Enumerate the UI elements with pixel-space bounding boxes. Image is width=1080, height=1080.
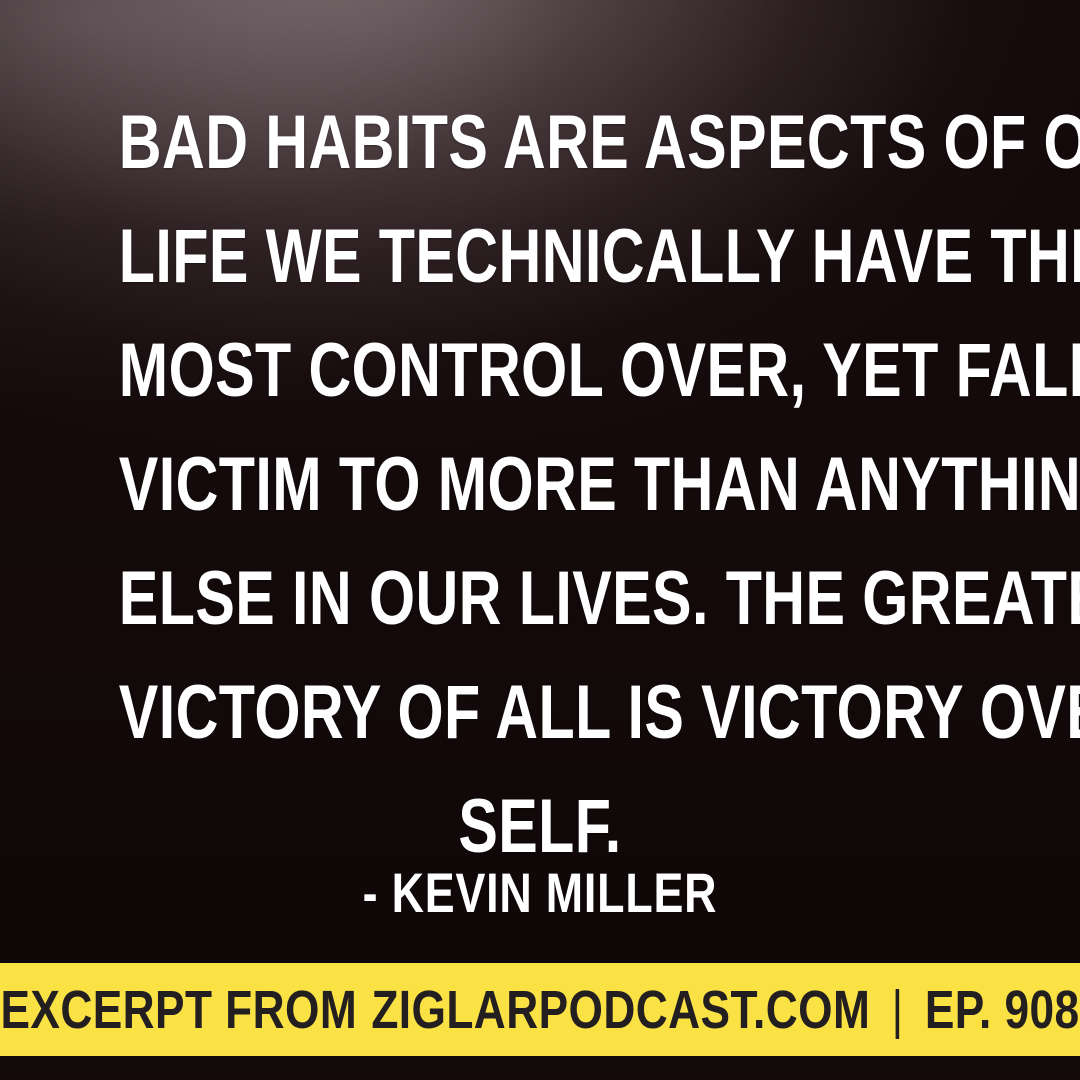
footer-source-bar: EXCERPT FROM ZIGLARPODCAST.COM | EP. 908 bbox=[0, 963, 1080, 1056]
quote-line-2: LIFE WE TECHNICALLY HAVE THE bbox=[119, 200, 961, 314]
quote-line-4: VICTIM TO MORE THAN ANYTHING bbox=[119, 428, 961, 542]
footer-divider: | bbox=[870, 981, 925, 1039]
footer-episode-label: EP. 908 bbox=[925, 981, 1080, 1039]
quote-line-5: ELSE IN OUR LIVES. THE GREATEST bbox=[119, 542, 961, 656]
quote-line-1: BAD HABITS ARE ASPECTS OF OUR bbox=[119, 86, 961, 200]
quote-line-6: VICTORY OF ALL IS VICTORY OVER bbox=[119, 656, 961, 770]
quote-attribution: - KEVIN MILLER bbox=[108, 862, 972, 924]
footer-prefix-label: EXCERPT FROM bbox=[0, 981, 357, 1039]
quote-line-3: MOST CONTROL OVER, YET FALL bbox=[119, 314, 961, 428]
quote-text-block: BAD HABITS ARE ASPECTS OF OUR LIFE WE TE… bbox=[0, 86, 1080, 884]
footer-source-link[interactable]: ZIGLARPODCAST.COM bbox=[371, 981, 870, 1039]
footer-text-group: EXCERPT FROM ZIGLARPODCAST.COM | EP. 908 bbox=[0, 981, 1079, 1039]
quote-card: BAD HABITS ARE ASPECTS OF OUR LIFE WE TE… bbox=[0, 0, 1080, 1080]
